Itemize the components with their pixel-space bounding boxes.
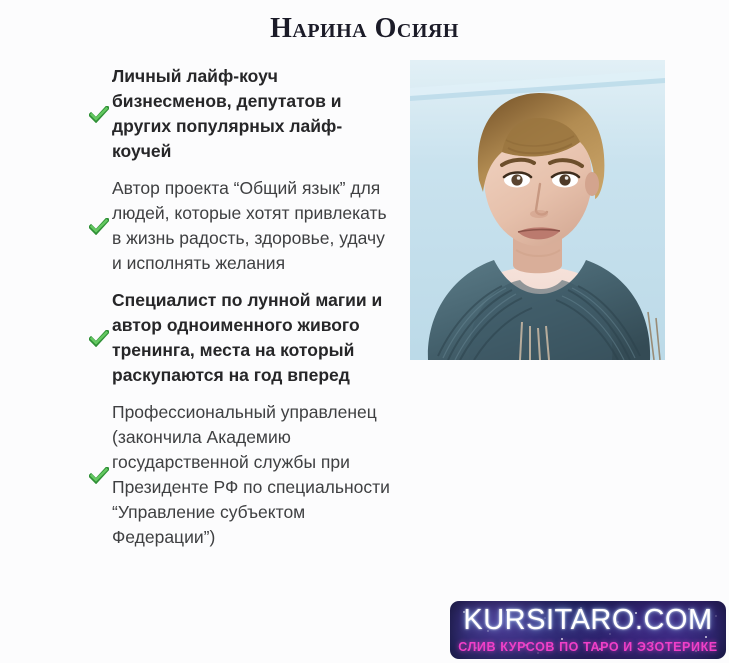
document-page: Нарина Осиян Личный лайф-коуч бизнесмено…	[0, 0, 729, 663]
list-item-text: Личный лайф-коуч бизнесменов, депутатов …	[112, 64, 391, 164]
green-check-icon	[86, 104, 112, 124]
green-check-icon	[86, 216, 112, 236]
list-item-text: Специалист по лунной магии и автор однои…	[112, 288, 391, 388]
green-check-icon	[86, 328, 112, 348]
list-item: Специалист по лунной магии и автор однои…	[86, 288, 391, 388]
bullet-list: Личный лайф-коуч бизнесменов, депутатов …	[86, 64, 391, 562]
list-item: Автор проекта “Общий язык” для людей, ко…	[86, 176, 391, 276]
list-item-text: Автор проекта “Общий язык” для людей, ко…	[112, 176, 391, 276]
list-item: Профессиональный управленец (закончила А…	[86, 400, 391, 550]
watermark-title: KURSITARO.COM	[450, 604, 726, 637]
portrait-photo	[410, 60, 665, 360]
list-item-text: Профессиональный управленец (закончила А…	[112, 400, 391, 550]
portrait-photo-graphic	[410, 60, 665, 360]
page-title: Нарина Осиян	[0, 13, 729, 45]
watermark-logo: KURSITARO.COM СЛИВ КУРСОВ ПО ТАРО И ЭЗОТ…	[450, 601, 726, 659]
green-check-icon	[86, 465, 112, 485]
watermark-subtitle: СЛИВ КУРСОВ ПО ТАРО И ЭЗОТЕРИКЕ	[450, 640, 726, 654]
list-item: Личный лайф-коуч бизнесменов, депутатов …	[86, 64, 391, 164]
